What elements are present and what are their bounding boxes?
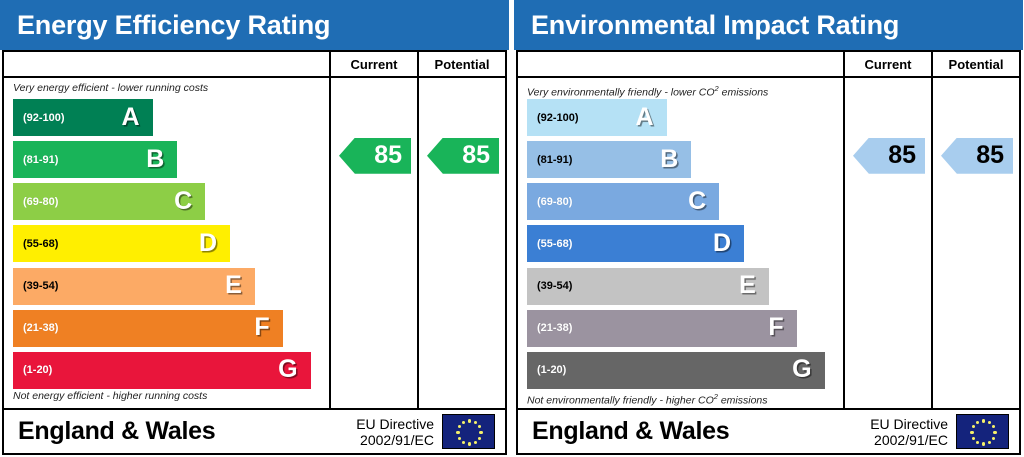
eu-star	[462, 441, 465, 444]
band-bar-f: (21-38)F	[527, 310, 797, 347]
band-range: (69-80)	[13, 196, 58, 208]
rating-bands: (92-100)A(81-91)B(69-80)C(55-68)D(39-54)…	[527, 97, 837, 390]
eu-directive-line1: EU Directive	[870, 416, 948, 432]
panel-body-environmental-impact: CurrentPotentialVery environmentally fri…	[516, 50, 1021, 410]
value-column-potential: 85	[931, 78, 1019, 408]
rating-bands: (92-100)A(81-91)B(69-80)C(55-68)D(39-54)…	[13, 97, 323, 390]
band-letter: G	[792, 355, 811, 384]
value-column-potential: 85	[417, 78, 505, 408]
eu-flag-icon	[956, 414, 1009, 449]
value-column-current: 85	[843, 78, 931, 408]
band-range: (39-54)	[527, 280, 572, 292]
panel-footer-energy-efficiency: England & WalesEU Directive2002/91/EC	[2, 410, 507, 455]
band-range: (81-91)	[13, 154, 58, 166]
band-bar-b: (81-91)B	[13, 141, 177, 178]
epc-chart-root: Energy Efficiency RatingCurrentPotential…	[0, 0, 1024, 457]
rating-value: 85	[888, 141, 916, 170]
band-letter: F	[768, 313, 783, 342]
band-letter: F	[254, 313, 269, 342]
band-bar-c: (69-80)C	[527, 183, 719, 220]
band-range: (81-91)	[527, 154, 572, 166]
band-range: (55-68)	[13, 238, 58, 250]
eu-star	[988, 441, 991, 444]
band-letter: A	[635, 102, 653, 131]
band-bar-e: (39-54)E	[527, 268, 769, 305]
column-header-row: CurrentPotential	[4, 52, 505, 78]
eu-star	[982, 442, 985, 445]
eu-star	[972, 425, 975, 428]
band-letter: G	[278, 355, 297, 384]
band-range: (21-38)	[13, 322, 58, 334]
eu-star	[970, 431, 973, 434]
rating-value: 85	[462, 141, 490, 170]
region-label: England & Wales	[4, 417, 356, 446]
band-letter: E	[225, 271, 242, 300]
band-bar-d: (55-68)D	[527, 225, 744, 262]
eu-directive-line2: 2002/91/EC	[356, 432, 434, 448]
column-header-potential: Potential	[931, 52, 1019, 76]
chart-area: Very energy efficient - lower running co…	[4, 78, 505, 408]
rating-arrow-current: 85	[853, 138, 925, 174]
caption-top: Very environmentally friendly - lower CO…	[527, 82, 837, 97]
bands-column: Very environmentally friendly - lower CO…	[518, 78, 843, 408]
eu-star	[462, 421, 465, 424]
eu-star	[456, 431, 459, 434]
band-bar-a: (92-100)A	[527, 99, 667, 136]
band-letter: A	[121, 102, 139, 131]
panel-header-environmental-impact: Environmental Impact Rating	[514, 0, 1023, 50]
column-header-potential: Potential	[417, 52, 505, 76]
band-letter: D	[713, 229, 731, 258]
band-bar-g: (1-20)G	[527, 352, 825, 389]
rating-value: 85	[976, 141, 1004, 170]
rating-arrow-potential: 85	[941, 138, 1013, 174]
eu-directive-text: EU Directive2002/91/EC	[870, 416, 956, 448]
eu-star	[982, 419, 985, 422]
bands-column: Very energy efficient - lower running co…	[4, 78, 329, 408]
band-range: (1-20)	[13, 364, 52, 376]
column-header-current: Current	[843, 52, 931, 76]
eu-star	[478, 437, 481, 440]
band-bar-g: (1-20)G	[13, 352, 311, 389]
panel-body-energy-efficiency: CurrentPotentialVery energy efficient - …	[2, 50, 507, 410]
band-bar-d: (55-68)D	[13, 225, 230, 262]
column-header-spacer	[518, 52, 843, 76]
band-letter: C	[688, 187, 706, 216]
eu-star	[474, 421, 477, 424]
band-range: (92-100)	[527, 112, 579, 124]
rating-arrow-potential: 85	[427, 138, 499, 174]
column-header-spacer	[4, 52, 329, 76]
eu-star	[478, 425, 481, 428]
caption-bottom-suffix: emissions	[718, 395, 768, 407]
eu-star	[458, 437, 461, 440]
band-bar-f: (21-38)F	[13, 310, 283, 347]
band-range: (55-68)	[527, 238, 572, 250]
eu-star	[972, 437, 975, 440]
caption-bottom: Not energy efficient - higher running co…	[13, 390, 323, 405]
caption-bottom: Not environmentally friendly - higher CO…	[527, 390, 837, 405]
panel-footer-environmental-impact: England & WalesEU Directive2002/91/EC	[516, 410, 1021, 455]
eu-star	[992, 437, 995, 440]
band-range: (69-80)	[527, 196, 572, 208]
caption-top: Very energy efficient - lower running co…	[13, 82, 323, 97]
band-bar-c: (69-80)C	[13, 183, 205, 220]
band-bar-b: (81-91)B	[527, 141, 691, 178]
eu-flag-icon	[442, 414, 495, 449]
eu-star	[976, 421, 979, 424]
band-range: (21-38)	[527, 322, 572, 334]
band-bar-a: (92-100)A	[13, 99, 153, 136]
eu-directive-line2: 2002/91/EC	[870, 432, 948, 448]
band-letter: C	[174, 187, 192, 216]
eu-star	[474, 441, 477, 444]
band-letter: E	[739, 271, 756, 300]
chart-area: Very environmentally friendly - lower CO…	[518, 78, 1019, 408]
panel-header-energy-efficiency: Energy Efficiency Rating	[0, 0, 509, 50]
rating-value: 85	[374, 141, 402, 170]
band-range: (39-54)	[13, 280, 58, 292]
band-range: (1-20)	[527, 364, 566, 376]
band-letter: B	[146, 145, 164, 174]
rating-panel-energy-efficiency: Energy Efficiency RatingCurrentPotential…	[0, 0, 509, 457]
band-letter: B	[660, 145, 678, 174]
eu-star	[976, 441, 979, 444]
rating-arrow-current: 85	[339, 138, 411, 174]
band-range: (92-100)	[13, 112, 65, 124]
panel-title: Energy Efficiency Rating	[17, 12, 330, 39]
panel-title: Environmental Impact Rating	[531, 12, 899, 39]
rating-panel-environmental-impact: Environmental Impact RatingCurrentPotent…	[514, 0, 1023, 457]
region-label: England & Wales	[518, 417, 870, 446]
band-bar-e: (39-54)E	[13, 268, 255, 305]
eu-star	[479, 431, 482, 434]
eu-star	[468, 442, 471, 445]
eu-star	[458, 425, 461, 428]
column-header-current: Current	[329, 52, 417, 76]
eu-star	[992, 425, 995, 428]
eu-star	[468, 419, 471, 422]
band-letter: D	[199, 229, 217, 258]
eu-directive-text: EU Directive2002/91/EC	[356, 416, 442, 448]
eu-star	[993, 431, 996, 434]
caption-bottom-text: Not environmentally friendly - higher CO	[527, 395, 714, 407]
column-header-row: CurrentPotential	[518, 52, 1019, 78]
value-column-current: 85	[329, 78, 417, 408]
eu-star	[988, 421, 991, 424]
eu-directive-line1: EU Directive	[356, 416, 434, 432]
